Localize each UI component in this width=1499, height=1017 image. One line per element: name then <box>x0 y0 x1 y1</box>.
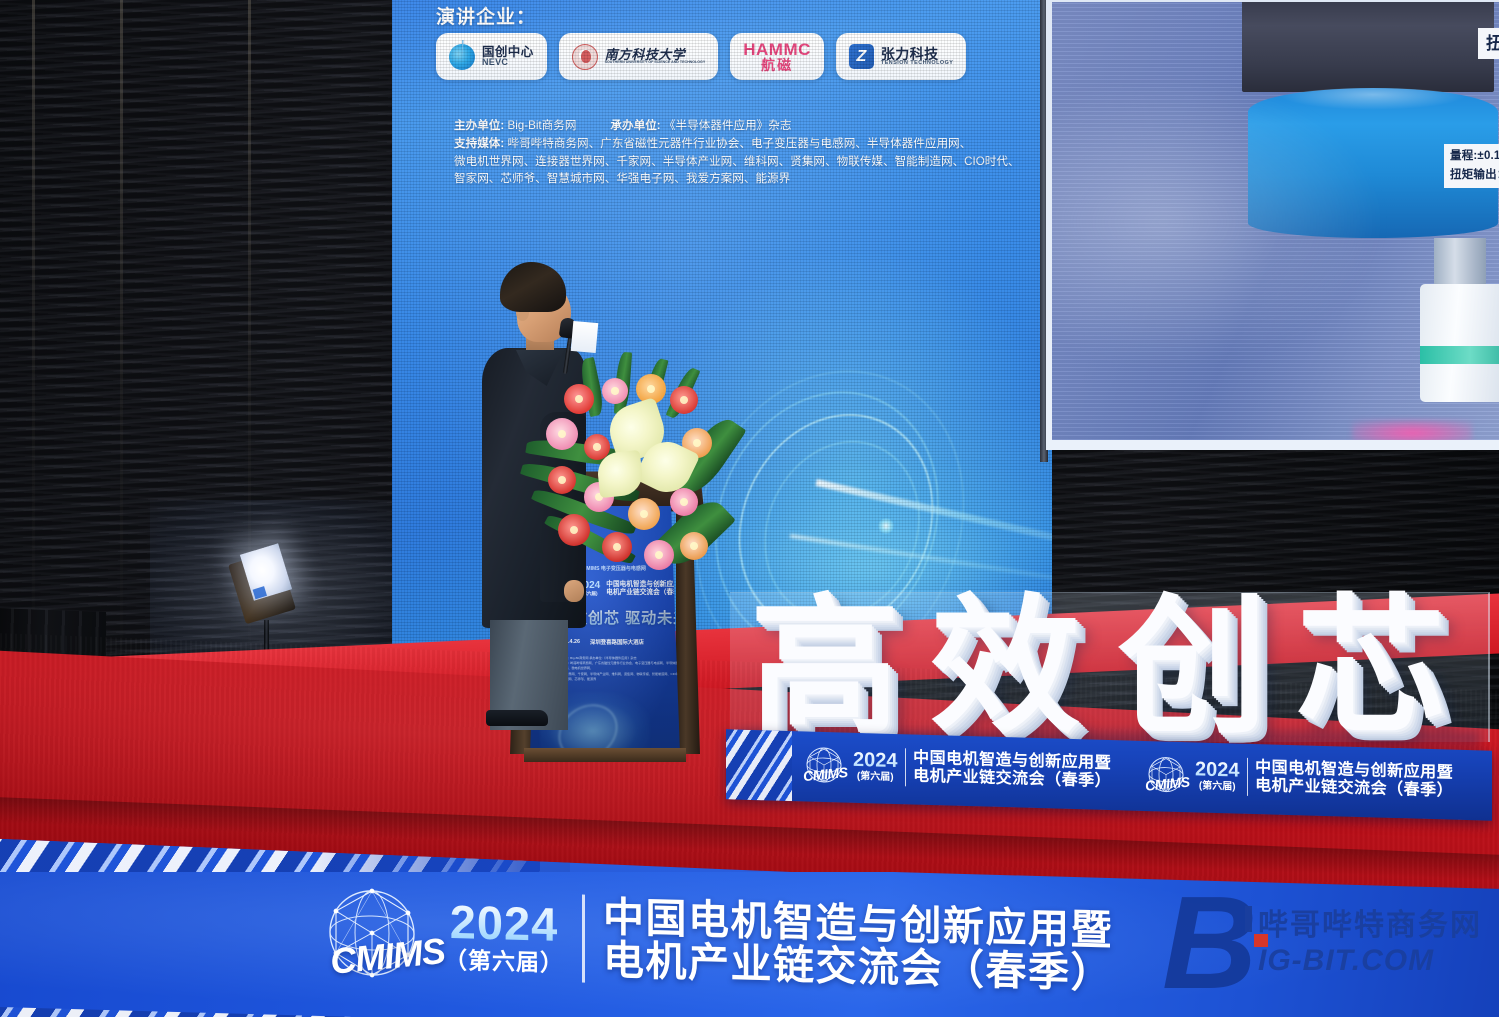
media-line-2: 微电机世界网、连接器世界网、千家网、半导体产业网、维科网、贤集网、物联传媒、智能… <box>454 153 984 170</box>
speaker-shoe <box>486 710 548 726</box>
plinth-logo-lockup-2: CMIMS 2024 (第六届) 中国电机智造与创新应用暨 电机产业链交流会（春… <box>1144 752 1453 805</box>
event-edition: （第六届） <box>444 949 564 975</box>
watermark-site-name-cn: 哔哥哔特商务网 <box>1258 900 1482 944</box>
backdrop-credits-block: 主办单位: Big-Bit商务网 承办单位: 《半导体器件应用》杂志 支持媒体:… <box>454 117 984 188</box>
event-year-block: 2024 （第六届） <box>444 898 564 975</box>
microphone-flag <box>571 321 599 353</box>
cmims-globe-icon: CMIMS <box>802 742 846 787</box>
sponsor-logo-row: 国创中心 NEVC 南方科技大学 SOUTHERN UNIVERSITY OF … <box>436 33 966 80</box>
watermark-site-url: IG-BIT.COM <box>1258 944 1434 978</box>
sponsor-name-en: NEVC <box>482 58 534 67</box>
sensor-label-top: 扭 <box>1478 28 1499 59</box>
side-display-screen: 扭 量程:±0.1N.m 扭矩输出：0 ± <box>1046 0 1499 450</box>
speaker-hand <box>564 580 584 602</box>
pink-highlight <box>1352 420 1472 440</box>
event-year: 2024 <box>853 750 898 771</box>
sponsor-logo-hammc: HAMMC 航磁 <box>730 33 824 80</box>
foam-char-2: 效 <box>930 588 1080 746</box>
podium-base <box>524 748 686 762</box>
cmims-globe-icon: CMIMS <box>318 878 426 989</box>
foam-char-3: 创 <box>1118 588 1268 746</box>
torque-sensor-dark-body <box>1242 2 1494 92</box>
plinth-logo-lockup-1: CMIMS 2024 (第六届) 中国电机智造与创新应用暨 电机产业链交流会（春… <box>802 742 1111 795</box>
plinth-stripe-pattern <box>726 729 792 801</box>
foam-char-4: 芯 <box>1296 588 1446 746</box>
organizer-label: 主办单位: <box>454 119 504 132</box>
nevc-globe-icon <box>449 44 475 70</box>
sponsor-name-cn: 航磁 <box>743 58 811 72</box>
motor-housing <box>1420 284 1499 402</box>
event-title-line-2: 电机产业链交流会（春季） <box>606 589 680 597</box>
tension-z-icon <box>849 44 874 69</box>
sensor-shaft <box>1434 238 1486 286</box>
sponsor-name-cn: 张力科技 <box>881 47 954 61</box>
sensor-spec-label: 量程:±0.1N.m 扭矩输出：0 ± <box>1444 144 1499 188</box>
undertaker-label: 承办单位: <box>610 119 660 132</box>
sponsor-name-en: HAMMC <box>743 41 811 58</box>
cmims-globe-icon: CMIMS <box>1144 752 1188 797</box>
sponsor-logo-nevc: 国创中心 NEVC <box>436 33 547 80</box>
sponsor-logo-sustech: 南方科技大学 SOUTHERN UNIVERSITY OF SCIENCE AN… <box>559 33 719 80</box>
speaker-hair <box>500 262 566 312</box>
event-year: 2024 <box>450 898 559 948</box>
sponsor-name-cn: 南方科技大学 <box>605 48 706 61</box>
divider <box>1247 758 1249 796</box>
sponsor-logo-tension: 张力科技 TENSION TECHNOLOGY <box>836 33 967 80</box>
foam-char-1: 高 <box>750 588 900 746</box>
flower-arrangement <box>524 356 724 571</box>
media-line-3: 智家网、芯师爷、智慧城市网、华强电子网、我爱方案网、能源界 <box>454 170 984 187</box>
spec-output: 扭矩输出：0 ± <box>1450 166 1499 185</box>
spec-range: 量程:±0.1N.m <box>1450 147 1499 166</box>
divider <box>582 895 585 983</box>
event-year: 2024 <box>1195 759 1240 780</box>
event-title-line-1: 中国电机智造与创新应用暨 <box>606 581 680 589</box>
hammc-wordmark-icon: HAMMC 航磁 <box>743 41 811 72</box>
event-title-block: 中国电机智造与创新应用暨 电机产业链交流会（春季） <box>603 896 1113 996</box>
divider <box>905 748 907 786</box>
wall-seam <box>120 0 123 700</box>
media-line-1: 哔哥哔特商务网、广东省磁性元器件行业协会、电子变压器与电感网、半导体器件应用网、 <box>507 137 971 150</box>
wall-seam <box>32 0 35 700</box>
conference-stage-photo: 演讲企业： 国创中心 NEVC 南方科技大学 SOUTHERN UNIVERSI… <box>0 0 1499 1017</box>
sustech-torch-icon <box>572 44 598 70</box>
sponsor-name-en: TENSION TECHNOLOGY <box>881 61 954 67</box>
side-screen-image: 扭 量程:±0.1N.m 扭矩输出：0 ± <box>1052 2 1499 440</box>
media-label: 支持媒体: <box>454 137 504 150</box>
organizer-value: Big-Bit商务网 <box>507 119 576 132</box>
sponsor-name-en: SOUTHERN UNIVERSITY OF SCIENCE AND TECHN… <box>605 61 706 65</box>
event-edition: (第六届) <box>857 772 894 783</box>
event-edition: (第六届) <box>1199 782 1236 793</box>
speaking-companies-heading: 演讲企业： <box>436 2 536 29</box>
undertaker-value: 《半导体器件应用》杂志 <box>664 119 792 132</box>
event-title-line-2: 电机产业链交流会（春季） <box>603 939 1113 996</box>
